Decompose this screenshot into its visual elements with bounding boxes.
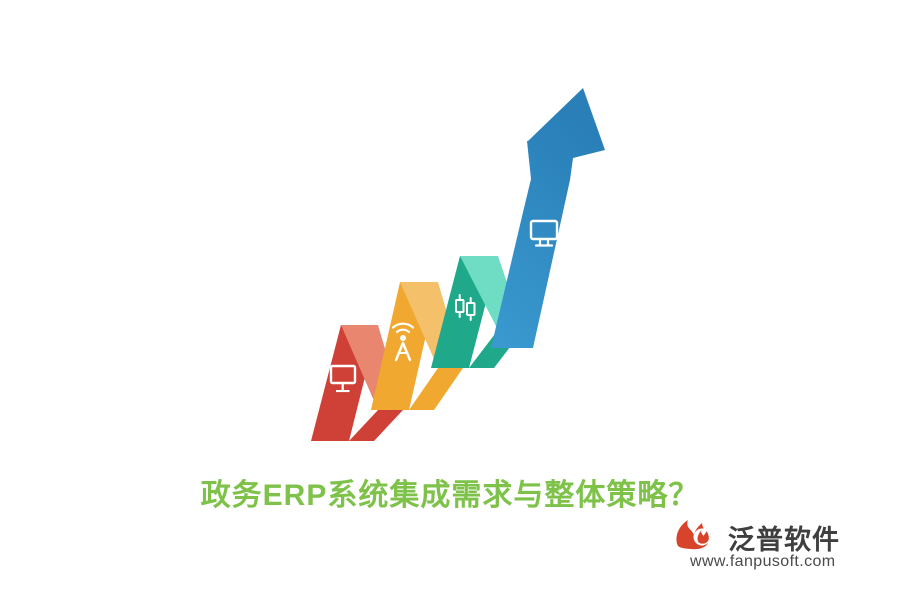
step-2-bottom-face xyxy=(409,368,463,410)
page-title: 政务ERP系统集成需求与整体策略？ xyxy=(0,470,900,514)
flame-circle-icon xyxy=(672,516,718,550)
brand-name: 泛普软件 xyxy=(728,518,840,557)
arrow-body xyxy=(491,88,605,348)
brand-url: www.fanpusoft.com xyxy=(690,553,836,571)
arrow-blue xyxy=(491,88,605,348)
brand-logo-block: 泛普软件 www.fanpusoft.com xyxy=(672,516,882,578)
diagram-canvas: 政务ERP系统集成需求与整体策略？ 泛普软件 www.fanpusoft.com xyxy=(0,0,900,600)
step-1-bottom-face xyxy=(349,410,403,441)
